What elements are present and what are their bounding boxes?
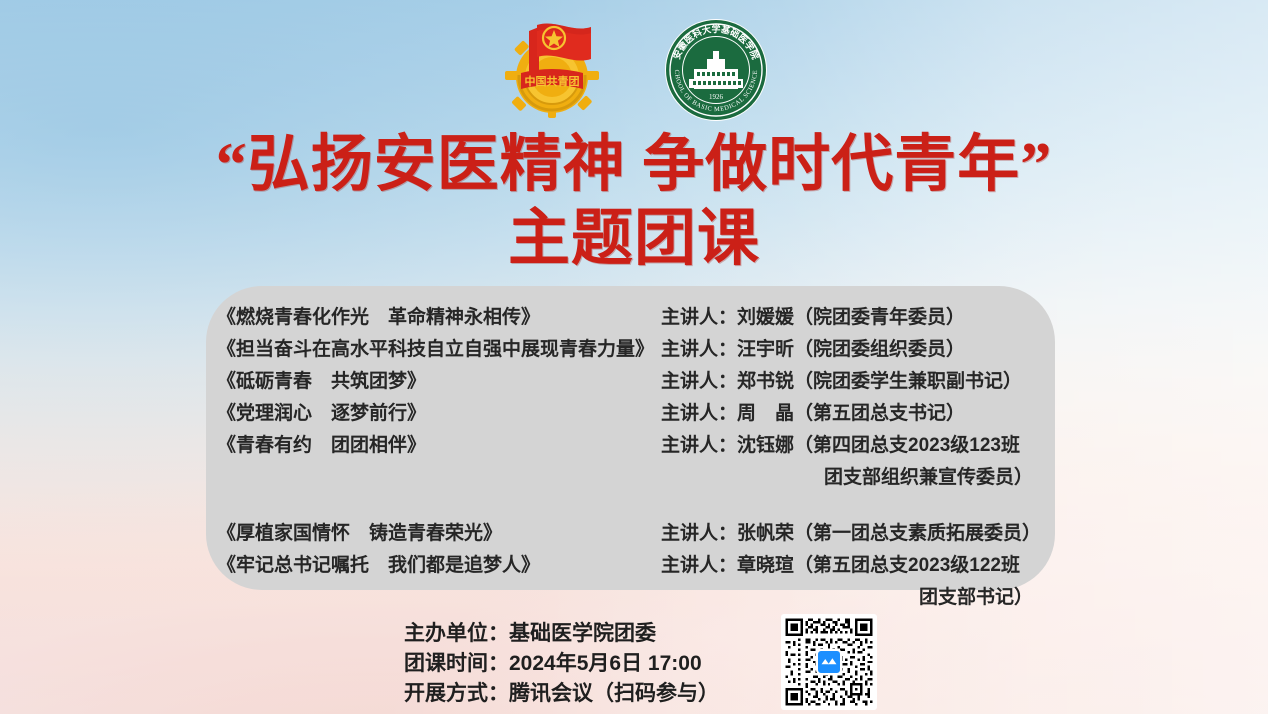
lecture-speaker-continuation: 团支部组织兼宣传委员）	[661, 462, 1055, 494]
lecture-speaker: 主讲人：汪宇昕（院团委组织委员）	[661, 334, 1055, 366]
emblem-banner-text: 中国共青团	[525, 74, 580, 88]
program-panel: 《燃烧青春化作光 革命精神永相传》 主讲人：刘媛媛（院团委青年委员） 《担当奋斗…	[206, 286, 1055, 590]
poster-footer: 主办单位：基础医学院团委 团课时间：2024年5月6日 17:00 开展方式：腾…	[0, 614, 1268, 714]
seal-year: 1926	[709, 93, 724, 101]
lecture-title: 《厚植家国情怀 铸造青春荣光》	[206, 518, 661, 550]
program-row: 《砥砺青春 共筑团梦》 主讲人：郑书锐（院团委学生兼职副书记）	[206, 366, 1055, 398]
poster-title: “弘扬安医精神 争做时代青年” 主题团课	[0, 128, 1268, 276]
tencent-meeting-qr-code[interactable]	[781, 614, 877, 710]
school-of-basic-medical-sciences-seal: 安徽医科大学基础医学院 SCHOOL OF BASIC MEDICAL SCIE…	[663, 17, 769, 123]
program-list: 《燃烧青春化作光 革命精神永相传》 主讲人：刘媛媛（院团委青年委员） 《担当奋斗…	[206, 286, 1055, 614]
lecture-title: 《党理润心 逐梦前行》	[206, 398, 661, 430]
program-row: 《青春有约 团团相伴》 主讲人：沈钰娜（第四团总支2023级123班	[206, 430, 1055, 462]
tencent-meeting-glyph	[820, 653, 838, 671]
emblem-row: 中国共青团 安徽医科大学基础医学院 SCHOOL OF BASIC MEDICA…	[0, 14, 1268, 126]
lecture-title: 《砥砺青春 共筑团梦》	[206, 366, 661, 398]
lecture-speaker: 主讲人：郑书锐（院团委学生兼职副书记）	[661, 366, 1055, 398]
lecture-speaker: 主讲人：章晓瑄（第五团总支2023级122班	[661, 550, 1055, 582]
lecture-speaker: 主讲人：沈钰娜（第四团总支2023级123班	[661, 430, 1055, 462]
lecture-speaker: 主讲人：张帆荣（第一团总支素质拓展委员）	[661, 518, 1055, 550]
lecture-title: 《燃烧青春化作光 革命精神永相传》	[206, 302, 661, 334]
footer-organizer: 主办单位：基础医学院团委	[404, 619, 719, 649]
lecture-speaker: 主讲人：周 晶（第五团总支书记）	[661, 398, 1055, 430]
lecture-speaker-continuation: 团支部书记）	[661, 582, 1055, 614]
program-row-continuation: 团支部组织兼宣传委员）	[206, 462, 1055, 494]
program-row-continuation: 团支部书记）	[206, 582, 1055, 614]
program-row: 《担当奋斗在高水平科技自立自强中展现青春力量》 主讲人：汪宇昕（院团委组织委员）	[206, 334, 1055, 366]
poster-canvas: 中国共青团 安徽医科大学基础医学院 SCHOOL OF BASIC MEDICA…	[0, 0, 1268, 714]
lecture-title: 《牢记总书记嘱托 我们都是追梦人》	[206, 550, 661, 582]
footer-method: 开展方式：腾讯会议（扫码参与）	[404, 679, 719, 709]
program-row: 《党理润心 逐梦前行》 主讲人：周 晶（第五团总支书记）	[206, 398, 1055, 430]
program-row: 《燃烧青春化作光 革命精神永相传》 主讲人：刘媛媛（院团委青年委员）	[206, 302, 1055, 334]
lecture-title: 《青春有约 团团相伴》	[206, 430, 661, 462]
footer-time: 团课时间：2024年5月6日 17:00	[404, 649, 719, 679]
lecture-title: 《担当奋斗在高水平科技自立自强中展现青春力量》	[206, 334, 661, 366]
program-row-spacer	[206, 494, 1055, 518]
title-line-1: “弘扬安医精神 争做时代青年”	[0, 128, 1268, 202]
program-row: 《牢记总书记嘱托 我们都是追梦人》 主讲人：章晓瑄（第五团总支2023级122班	[206, 550, 1055, 582]
lecture-speaker: 主讲人：刘媛媛（院团委青年委员）	[661, 302, 1055, 334]
tencent-meeting-logo-icon	[816, 649, 842, 675]
program-row: 《厚植家国情怀 铸造青春荣光》 主讲人：张帆荣（第一团总支素质拓展委员）	[206, 518, 1055, 550]
title-line-2: 主题团课	[0, 202, 1268, 276]
communist-youth-league-emblem: 中国共青团	[499, 17, 605, 123]
footer-text-block: 主办单位：基础医学院团委 团课时间：2024年5月6日 17:00 开展方式：腾…	[404, 614, 719, 709]
